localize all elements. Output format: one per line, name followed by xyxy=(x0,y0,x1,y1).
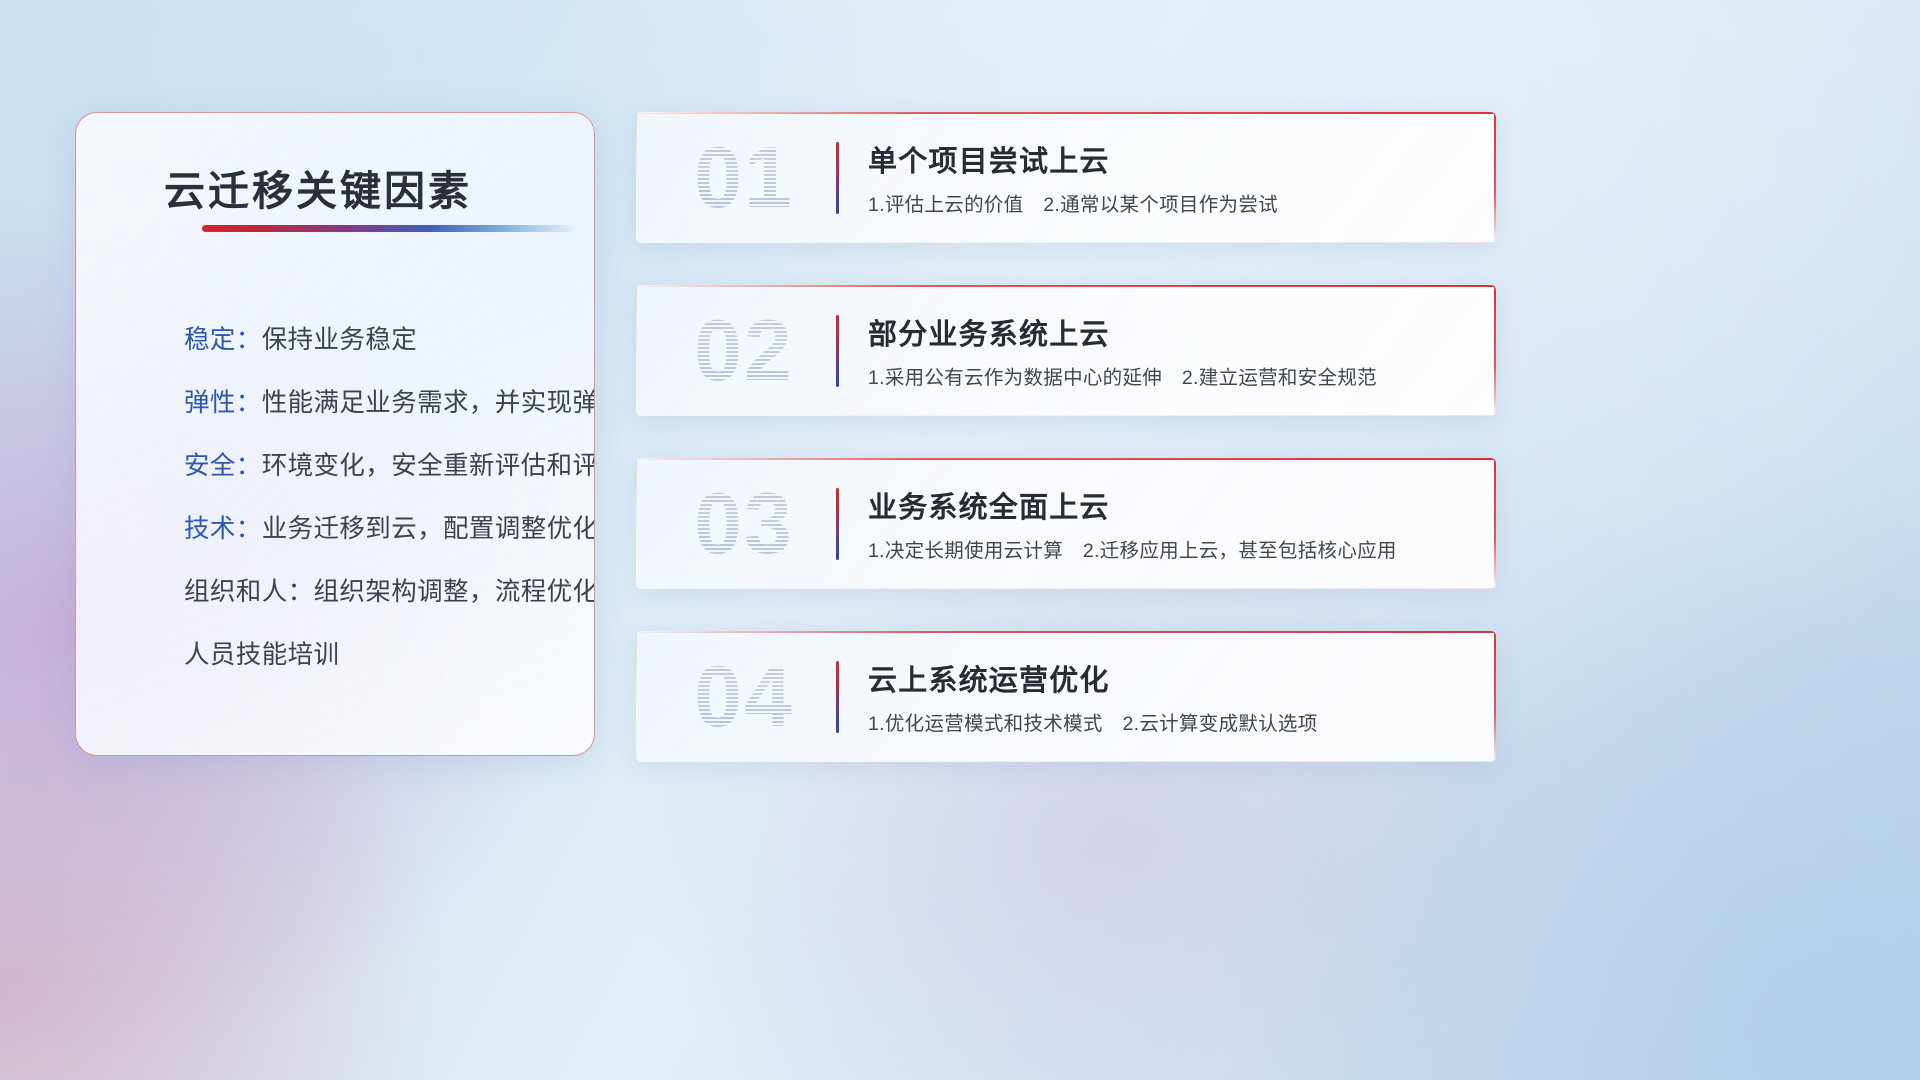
key-factor-text: 业务迁移到云，配置调整优化 xyxy=(262,515,595,543)
key-factor-item: 安全：环境变化，安全重新评估和评审 xyxy=(76,435,594,498)
cloud-migration-stages-list: 0101单个项目尝试上云1.评估上云的价值 2.通常以某个项目作为尝试0202部… xyxy=(636,112,1496,804)
card-right-accent-edge xyxy=(1494,458,1496,589)
stage-card[interactable]: 0202部分业务系统上云1.采用公有云作为数据中心的延伸 2.建立运营和安全规范 xyxy=(636,285,1496,416)
key-factor-item: 弹性：性能满足业务需求，并实现弹性 xyxy=(76,372,594,435)
key-factor-item: 技术：业务迁移到云，配置调整优化 xyxy=(76,498,594,561)
stage-number-tint: 02 xyxy=(656,299,832,403)
key-factor-label: 技术： xyxy=(184,515,262,543)
stage-number-watermark: 0202 xyxy=(656,299,832,403)
stage-title: 业务系统全面上云 xyxy=(868,484,1110,526)
stage-number-watermark: 0101 xyxy=(656,126,832,230)
stage-number-tint: 01 xyxy=(656,126,832,230)
stage-description: 1.评估上云的价值 2.通常以某个项目作为尝试 xyxy=(868,188,1278,217)
stage-number-tint: 04 xyxy=(656,645,832,749)
card-top-accent-edge xyxy=(636,285,1496,287)
key-factor-text: 人员技能培训 xyxy=(184,641,339,669)
key-factors-list: 稳定：保持业务稳定弹性：性能满足业务需求，并实现弹性安全：环境变化，安全重新评估… xyxy=(76,309,594,687)
key-factor-item: 组织和人：组织架构调整，流程优化， xyxy=(76,561,594,624)
stage-card[interactable]: 0101单个项目尝试上云1.评估上云的价值 2.通常以某个项目作为尝试 xyxy=(636,112,1496,243)
card-bottom-edge xyxy=(636,761,1496,762)
card-top-accent-edge xyxy=(636,112,1496,114)
card-bottom-edge xyxy=(636,415,1496,416)
stage-card[interactable]: 0404云上系统运营优化1.优化运营模式和技术模式 2.云计算变成默认选项 xyxy=(636,631,1496,762)
card-accent-bar xyxy=(836,661,839,733)
stage-number-tint: 03 xyxy=(656,472,832,576)
key-factor-label: 弹性： xyxy=(184,389,262,417)
stage-description: 1.采用公有云作为数据中心的延伸 2.建立运营和安全规范 xyxy=(868,361,1377,390)
page-title: 云迁移关键因素 xyxy=(164,157,472,217)
stage-description: 1.决定长期使用云计算 2.迁移应用上云，甚至包括核心应用 xyxy=(868,534,1397,563)
card-right-accent-edge xyxy=(1494,112,1496,243)
stage-card[interactable]: 0303业务系统全面上云1.决定长期使用云计算 2.迁移应用上云，甚至包括核心应… xyxy=(636,458,1496,589)
stage-number-watermark: 0303 xyxy=(656,472,832,576)
key-factor-label: 稳定： xyxy=(184,326,262,354)
card-bottom-edge xyxy=(636,588,1496,589)
key-factor-label: 组织和人： xyxy=(184,578,314,606)
card-right-accent-edge xyxy=(1494,285,1496,416)
stage-description: 1.优化运营模式和技术模式 2.云计算变成默认选项 xyxy=(868,707,1318,736)
stage-title: 部分业务系统上云 xyxy=(868,311,1110,353)
card-left-edge xyxy=(636,285,637,416)
key-factor-text: 保持业务稳定 xyxy=(262,326,417,354)
card-top-accent-edge xyxy=(636,631,1496,633)
card-accent-bar xyxy=(836,315,839,387)
card-accent-bar xyxy=(836,488,839,560)
stage-number-watermark: 0404 xyxy=(656,645,832,749)
card-accent-bar xyxy=(836,142,839,214)
card-left-edge xyxy=(636,631,637,762)
card-left-edge xyxy=(636,112,637,243)
title-underline-accent xyxy=(202,225,574,232)
key-factor-item: 人员技能培训 xyxy=(76,624,594,687)
key-factor-text: 组织架构调整，流程优化， xyxy=(314,578,595,606)
card-top-accent-edge xyxy=(636,458,1496,460)
card-left-edge xyxy=(636,458,637,589)
key-factor-item: 稳定：保持业务稳定 xyxy=(76,309,594,372)
key-factors-panel: 云迁移关键因素 稳定：保持业务稳定弹性：性能满足业务需求，并实现弹性安全：环境变… xyxy=(75,112,595,756)
card-right-accent-edge xyxy=(1494,631,1496,762)
key-factor-text: 性能满足业务需求，并实现弹性 xyxy=(262,389,595,417)
stage-title: 单个项目尝试上云 xyxy=(868,138,1110,180)
key-factor-label: 安全： xyxy=(184,452,262,480)
key-factor-text: 环境变化，安全重新评估和评审 xyxy=(262,452,595,480)
card-bottom-edge xyxy=(636,242,1496,243)
stage-title: 云上系统运营优化 xyxy=(868,657,1110,699)
